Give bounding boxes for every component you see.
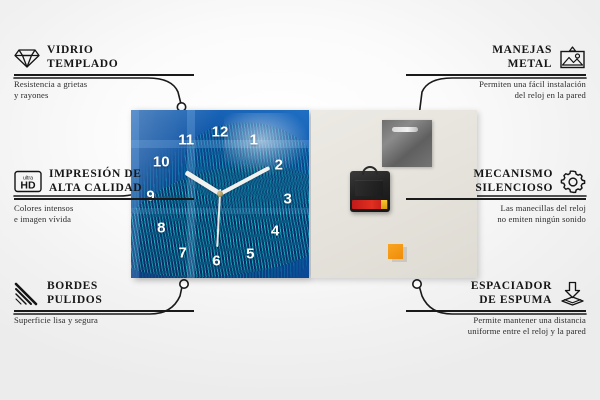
diamond-icon: [14, 47, 40, 69]
callout-header: MECANISMO SILENCIOSO: [406, 168, 586, 195]
callout-bordes-pulidos: BORDES PULIDOS Superficie lisa y segura: [14, 280, 194, 326]
clock-numeral-11: 11: [178, 133, 194, 148]
mechanism-hanging-loop: [362, 166, 378, 175]
clock-numeral-4: 4: [271, 223, 279, 238]
callout-subtitle: Resistencia a grietas y rayones: [14, 79, 194, 102]
infographic-stage: 12 1 2 3 4 5 6 7 8 9 10 11: [0, 0, 600, 400]
callout-title: IMPRESIÓN DE ALTA CALIDAD: [49, 168, 142, 195]
gear-icon: [560, 169, 586, 195]
callout-subtitle: Superficie lisa y segura: [14, 315, 194, 327]
callout-espaciador-de-espuma: ESPACIADOR DE ESPUMA Permite mantener un…: [406, 280, 586, 338]
callout-title: MANEJAS METAL: [492, 44, 552, 71]
foam-spacer-pad: [388, 244, 403, 259]
svg-text:HD: HD: [20, 180, 36, 192]
clock-numeral-2: 2: [275, 158, 283, 173]
mechanism-yellow-chip: [381, 200, 387, 209]
callout-title: VIDRIO TEMPLADO: [47, 44, 118, 71]
callout-header: ESPACIADOR DE ESPUMA: [406, 280, 586, 307]
mechanism-body-detail: [355, 180, 383, 196]
callout-vidrio-templado: VIDRIO TEMPLADO Resistencia a grietas y …: [14, 44, 194, 102]
polished-edges-icon: [14, 282, 40, 306]
callout-header: ultra HD IMPRESIÓN DE ALTA CALIDAD: [14, 168, 194, 195]
ultra-hd-icon: ultra HD: [14, 170, 42, 193]
metal-hanger-plate: [382, 120, 432, 167]
callout-divider: [14, 310, 194, 311]
callout-divider: [14, 74, 194, 75]
callout-header: VIDRIO TEMPLADO: [14, 44, 194, 71]
callout-header: MANEJAS METAL: [406, 44, 586, 71]
hanger-slot: [392, 127, 418, 132]
callout-divider: [406, 310, 586, 311]
clock-numeral-1: 1: [250, 133, 258, 148]
callout-impresion-alta-calidad: ultra HD IMPRESIÓN DE ALTA CALIDAD Color…: [14, 168, 194, 226]
callout-subtitle: Permite mantener una distancia uniforme …: [406, 315, 586, 338]
clock-numeral-5: 5: [246, 247, 254, 262]
callout-header: BORDES PULIDOS: [14, 280, 194, 307]
callout-title: BORDES PULIDOS: [47, 280, 102, 307]
callout-divider: [406, 74, 586, 75]
clock-numeral-12: 12: [212, 124, 229, 139]
callout-manejas-metal: MANEJAS METAL Permiten una fácil instala…: [406, 44, 586, 102]
callout-subtitle: Permiten una fácil instalación del reloj…: [406, 79, 586, 102]
clock-center-cap: [217, 191, 223, 197]
picture-hanger-icon: [559, 46, 586, 70]
callout-mecanismo-silencioso: MECANISMO SILENCIOSO Las manecillas del …: [406, 168, 586, 226]
foam-spacer-icon: [559, 281, 586, 307]
clock-numeral-7: 7: [178, 245, 186, 260]
callout-divider: [14, 198, 194, 199]
clock-numeral-6: 6: [212, 254, 220, 269]
callout-subtitle: Las manecillas del reloj no emiten ningú…: [406, 203, 586, 226]
callout-title: ESPACIADOR DE ESPUMA: [471, 280, 552, 307]
callout-title: MECANISMO SILENCIOSO: [473, 168, 553, 195]
clock-numeral-3: 3: [283, 192, 291, 207]
callout-subtitle: Colores intensos e imagen vívida: [14, 203, 194, 226]
callout-divider: [406, 198, 586, 199]
clock-mechanism-box: [350, 171, 390, 212]
